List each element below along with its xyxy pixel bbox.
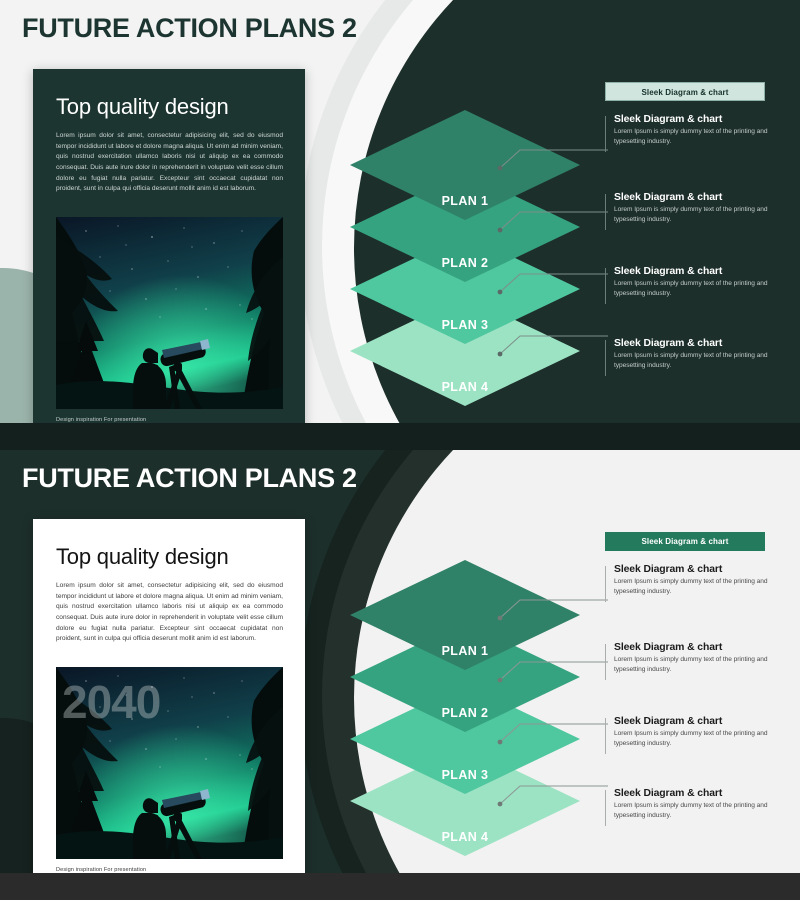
item-accent-bar — [605, 566, 606, 602]
item-description: Lorem Ipsum is simply dummy text of the … — [614, 205, 780, 225]
card-photo: 2040 — [56, 667, 283, 859]
item-accent-bar — [605, 268, 606, 304]
card-body-text: Lorem ipsum dolor sit amet, consectetur … — [56, 581, 283, 645]
detail-item[interactable]: Sleek Diagram & chart Lorem Ipsum is sim… — [605, 338, 780, 371]
slide-light: FUTURE ACTION PLANS 2 Top quality design… — [0, 0, 800, 450]
item-description: Lorem Ipsum is simply dummy text of the … — [614, 577, 780, 597]
card-heading: Top quality design — [56, 544, 229, 570]
card-heading: Top quality design — [56, 94, 229, 120]
item-accent-bar — [605, 790, 606, 826]
page-title: FUTURE ACTION PLANS 2 — [22, 463, 357, 494]
item-description: Lorem Ipsum is simply dummy text of the … — [614, 729, 780, 749]
detail-item[interactable]: Sleek Diagram & chart Lorem Ipsum is sim… — [605, 266, 780, 299]
item-description: Lorem Ipsum is simply dummy text of the … — [614, 279, 780, 299]
plan-label: PLAN 3 — [350, 318, 580, 332]
feature-card: Top quality design Lorem ipsum dolor sit… — [33, 69, 305, 441]
item-accent-bar — [605, 194, 606, 230]
details-panel: Sleek Diagram & chart Sleek Diagram & ch… — [605, 532, 775, 551]
plan-label: PLAN 3 — [350, 768, 580, 782]
item-description: Lorem Ipsum is simply dummy text of the … — [614, 127, 780, 147]
item-title: Sleek Diagram & chart — [614, 114, 780, 125]
plan-label: PLAN 2 — [350, 256, 580, 270]
section-badge[interactable]: Sleek Diagram & chart — [605, 532, 765, 551]
detail-item[interactable]: Sleek Diagram & chart Lorem Ipsum is sim… — [605, 788, 780, 821]
slide-deck: FUTURE ACTION PLANS 2 Top quality design… — [0, 0, 800, 900]
aurora-night-sky-image — [56, 217, 283, 409]
plan-diamond-1[interactable]: PLAN 1 — [350, 560, 580, 670]
detail-item[interactable]: Sleek Diagram & chart Lorem Ipsum is sim… — [605, 114, 780, 147]
plan-diagram: PLAN 4 PLAN 3 PLAN 2 PLAN 1 — [350, 560, 610, 820]
plan-label: PLAN 1 — [350, 644, 580, 658]
card-body-text: Lorem ipsum dolor sit amet, consectetur … — [56, 131, 283, 195]
item-description: Lorem Ipsum is simply dummy text of the … — [614, 351, 780, 371]
detail-item[interactable]: Sleek Diagram & chart Lorem Ipsum is sim… — [605, 642, 780, 675]
card-photo — [56, 217, 283, 409]
item-title: Sleek Diagram & chart — [614, 642, 780, 653]
slide-footer-band — [0, 423, 800, 450]
detail-item[interactable]: Sleek Diagram & chart Lorem Ipsum is sim… — [605, 192, 780, 225]
item-title: Sleek Diagram & chart — [614, 266, 780, 277]
item-title: Sleek Diagram & chart — [614, 338, 780, 349]
item-accent-bar — [605, 116, 606, 152]
slide-dark: FUTURE ACTION PLANS 2 Top quality design… — [0, 450, 800, 900]
item-accent-bar — [605, 644, 606, 680]
page-title: FUTURE ACTION PLANS 2 — [22, 13, 357, 44]
slide-footer-band — [0, 873, 800, 900]
detail-item[interactable]: Sleek Diagram & chart Lorem Ipsum is sim… — [605, 716, 780, 749]
item-description: Lorem Ipsum is simply dummy text of the … — [614, 655, 780, 675]
item-title: Sleek Diagram & chart — [614, 564, 780, 575]
details-panel: Sleek Diagram & chart Sleek Diagram & ch… — [605, 82, 775, 101]
plan-diamond-1[interactable]: PLAN 1 — [350, 110, 580, 220]
item-title: Sleek Diagram & chart — [614, 716, 780, 727]
plan-diagram: PLAN 4 PLAN 3 PLAN 2 PLAN 1 — [350, 110, 610, 370]
section-badge[interactable]: Sleek Diagram & chart — [605, 82, 765, 101]
item-title: Sleek Diagram & chart — [614, 788, 780, 799]
item-accent-bar — [605, 340, 606, 376]
detail-item[interactable]: Sleek Diagram & chart Lorem Ipsum is sim… — [605, 564, 780, 597]
aurora-night-sky-image — [56, 667, 283, 859]
feature-card: Top quality design Lorem ipsum dolor sit… — [33, 519, 305, 891]
item-description: Lorem Ipsum is simply dummy text of the … — [614, 801, 780, 821]
plan-label: PLAN 1 — [350, 194, 580, 208]
plan-label: PLAN 2 — [350, 706, 580, 720]
item-title: Sleek Diagram & chart — [614, 192, 780, 203]
item-accent-bar — [605, 718, 606, 754]
